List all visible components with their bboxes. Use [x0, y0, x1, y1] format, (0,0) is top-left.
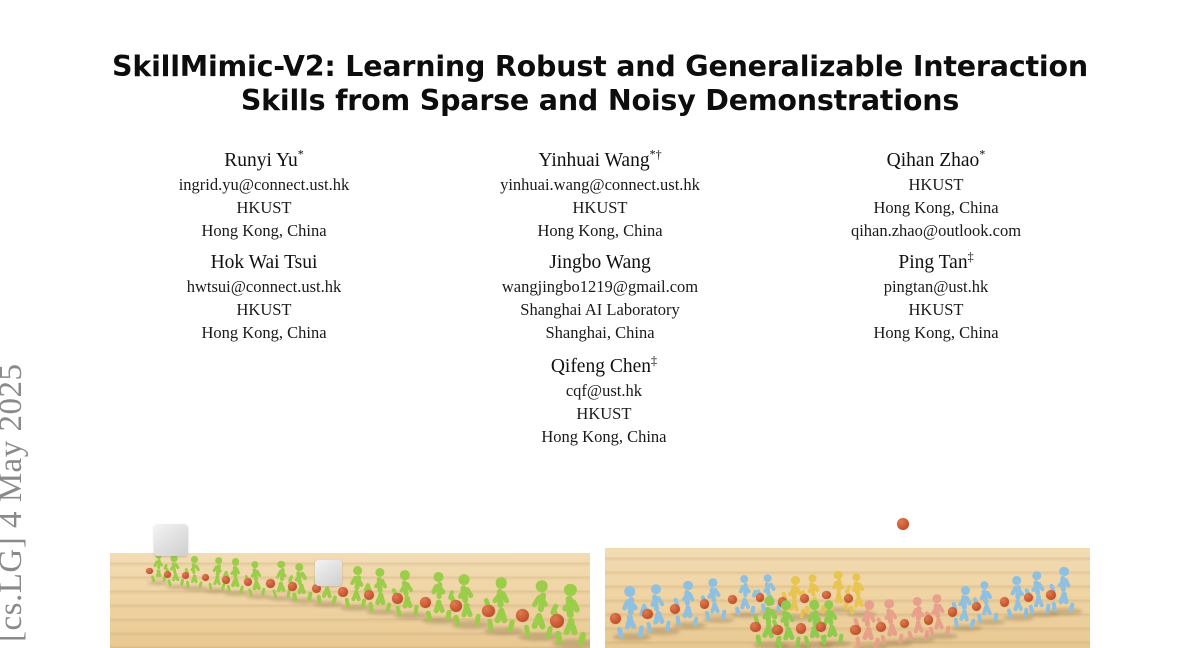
figure-limb: [344, 598, 350, 608]
figure-limb: [474, 614, 481, 627]
figure-limb: [360, 599, 366, 609]
figure-head: [1059, 567, 1069, 577]
figure-limb: [331, 595, 337, 605]
author-email: cqf@ust.hk: [436, 379, 772, 402]
figure-head: [232, 558, 239, 565]
figure-limb: [208, 582, 212, 590]
figure-head: [353, 566, 362, 575]
author-block-jingbo-wang: Jingbo Wang wangjingbo1219@gmail.com Sha…: [432, 250, 768, 344]
author-name: Jingbo Wang: [436, 250, 764, 275]
author-block-qihan-zhao: Qihan Zhao* HKUST Hong Kong, China qihan…: [768, 148, 1104, 242]
figure-limb: [554, 630, 562, 645]
author-row-1: Runyi Yu* ingrid.yu@connect.ust.hk HKUST…: [96, 148, 1104, 242]
figure-limb: [220, 583, 225, 591]
figure-head: [834, 570, 843, 579]
figure-limb: [751, 605, 756, 615]
basketball: [146, 568, 153, 575]
author-email: wangjingbo1219@gmail.com: [436, 275, 764, 298]
basketball: [164, 571, 171, 578]
basketball: [897, 518, 909, 530]
figure-limb: [638, 625, 645, 637]
basketball: [1046, 590, 1056, 600]
author-affiliation-mark: *: [979, 148, 985, 162]
basketball: [642, 609, 653, 620]
figure-head: [864, 600, 874, 610]
basketball: [772, 625, 783, 636]
figure-head: [932, 594, 941, 603]
box-obstacle: [315, 560, 342, 586]
box-obstacle: [154, 524, 188, 556]
figure-limb: [507, 620, 515, 633]
author-email: pingtan@ust.hk: [772, 275, 1100, 298]
figure-head: [375, 568, 384, 577]
humanoid-figure: [612, 583, 644, 638]
figure-limb: [838, 633, 844, 644]
basketball: [876, 622, 886, 632]
arxiv-stamp: [cs.LG] 4 May 2025: [0, 0, 96, 648]
figure-limb: [151, 575, 155, 582]
arxiv-stamp-text: [cs.LG] 4 May 2025: [0, 364, 30, 642]
title-line-1: SkillMimic-V2: Learning Robust and Gener…: [96, 50, 1104, 84]
humanoid-figure: [554, 580, 590, 645]
author-block-hok-wai-tsui: Hok Wai Tsui hwtsui@connect.ust.hk HKUST…: [96, 250, 432, 344]
humanoid-figure: [702, 575, 729, 621]
figure-head: [884, 599, 894, 609]
figure-limb: [292, 592, 298, 601]
author-email: yinhuai.wang@connect.ust.hk: [436, 173, 764, 196]
figure-limb: [445, 609, 451, 621]
author-institution: HKUST: [772, 173, 1100, 196]
basketball: [924, 615, 933, 624]
basketball: [222, 576, 230, 584]
figure-limb: [953, 618, 958, 628]
author-name-text: Qifeng Chen: [551, 356, 651, 377]
author-name-text: Qihan Zhao: [887, 150, 980, 171]
figure-limb: [261, 587, 266, 596]
figure-head: [913, 597, 922, 606]
figure-head: [1012, 576, 1021, 585]
author-row-3: Qifeng Chen‡ cqf@ust.hk HKUST Hong Kong,…: [96, 354, 1104, 448]
author-affiliation-mark: *†: [650, 148, 662, 162]
paper-page: SkillMimic-V2: Learning Robust and Gener…: [96, 0, 1200, 648]
figure-head: [191, 556, 198, 563]
humanoid-figure: [422, 570, 452, 622]
figure-limb: [385, 602, 392, 613]
basketball: [338, 587, 348, 597]
author-location: Hong Kong, China: [436, 219, 764, 242]
author-block-qifeng-chen: Qifeng Chen‡ cqf@ust.hk HKUST Hong Kong,…: [432, 354, 776, 448]
basketball: [844, 594, 853, 603]
basketball: [700, 599, 709, 608]
author-name: Yinhuai Wang*†: [436, 148, 764, 173]
figure-limb: [907, 630, 914, 641]
figure-limb: [1007, 608, 1014, 618]
humanoid-figure: [166, 554, 185, 587]
figure-limb: [969, 618, 976, 628]
humanoid-figure: [206, 556, 226, 591]
figure-limb: [545, 625, 554, 639]
author-block-runyi-yu: Runyi Yu* ingrid.yu@connect.ust.hk HKUST…: [96, 148, 432, 242]
author-name-text: Yinhuai Wang: [538, 150, 649, 171]
figure-head: [536, 580, 549, 593]
figure-head: [650, 584, 661, 595]
basketball: [266, 579, 275, 588]
figure-head: [980, 581, 989, 590]
author-institution: HKUST: [436, 196, 764, 219]
author-institution: HKUST: [436, 402, 772, 425]
author-institution: Shanghai AI Laboratory: [436, 298, 764, 321]
figure-head: [215, 557, 222, 564]
figure-limb: [523, 624, 531, 638]
figure-head: [740, 574, 749, 583]
author-name-text: Jingbo Wang: [549, 252, 651, 273]
figure-limb: [945, 626, 951, 636]
figure-head: [295, 563, 303, 571]
figure-limb: [413, 605, 419, 616]
figure-head: [1032, 571, 1042, 581]
figure-head: [683, 581, 693, 591]
figure-limb: [180, 579, 184, 586]
figure-head: [433, 572, 444, 583]
basketball: [288, 582, 297, 591]
author-name-text: Runyi Yu: [224, 150, 298, 171]
figure-head: [564, 583, 577, 596]
teaser-figure: [110, 505, 1090, 648]
author-location: Hong Kong, China: [436, 425, 772, 448]
figure-head: [852, 573, 861, 582]
figure-limb: [1068, 602, 1075, 613]
humanoid-figure: [1051, 564, 1079, 612]
figure-head: [251, 560, 259, 568]
author-email: ingrid.yu@connect.ust.hk: [100, 173, 428, 196]
title-line-2: Skills from Sparse and Noisy Demonstrati…: [96, 84, 1104, 118]
author-location: Shanghai, China: [436, 321, 764, 344]
author-institution: HKUST: [100, 298, 428, 321]
humanoid-figures-right: [605, 505, 1090, 648]
figure-limb: [239, 585, 244, 593]
author-location: Hong Kong, China: [100, 321, 428, 344]
author-row-2: Hok Wai Tsui hwtsui@connect.ust.hk HKUST…: [96, 250, 1104, 344]
figure-head: [171, 555, 178, 562]
humanoid-figure: [974, 578, 1001, 623]
author-name: Ping Tan‡: [772, 250, 1100, 275]
author-list: Runyi Yu* ingrid.yu@connect.ust.hk HKUST…: [96, 148, 1104, 448]
figure-head: [764, 574, 773, 583]
figure-limb: [617, 626, 625, 639]
figure-head: [824, 600, 834, 610]
author-affiliation-mark: ‡: [968, 250, 974, 264]
author-name: Hok Wai Tsui: [100, 250, 428, 275]
author-location: Hong Kong, China: [772, 321, 1100, 344]
humanoid-figure: [486, 574, 519, 632]
basketball: [948, 607, 957, 616]
figure-limb: [665, 620, 671, 632]
figure-head: [708, 578, 717, 587]
figure-head: [808, 574, 817, 583]
figure-limb: [803, 636, 810, 647]
author-affiliation-mark: *: [298, 148, 304, 162]
figure-limb: [880, 634, 887, 645]
humanoid-figure: [451, 571, 483, 626]
basketball: [796, 623, 806, 633]
figure-limb: [993, 612, 998, 622]
teaser-panel-right: [605, 505, 1090, 648]
figure-limb: [198, 581, 203, 589]
figure-limb: [692, 616, 699, 627]
basketball: [482, 605, 495, 618]
author-location: Hong Kong, China: [772, 196, 1100, 219]
author-block-yinhuai-wang: Yinhuai Wang*† yinhuai.wang@connect.ust.…: [432, 148, 768, 242]
author-email: qihan.zhao@outlook.com: [772, 219, 1100, 242]
humanoid-figure: [731, 572, 756, 615]
humanoid-figure: [186, 555, 205, 589]
author-location: Hong Kong, China: [100, 219, 428, 242]
basketball: [420, 597, 431, 608]
figure-limb: [307, 592, 312, 601]
figure-head: [458, 574, 469, 585]
basketball: [392, 593, 403, 604]
humanoid-figure: [290, 560, 314, 601]
basketball: [816, 622, 826, 632]
author-block-ping-tan: Ping Tan‡ pingtan@ust.hk HKUST Hong Kong…: [768, 250, 1104, 344]
figure-limb: [675, 615, 681, 626]
figure-head: [624, 586, 635, 597]
basketball: [728, 595, 737, 604]
author-name-text: Ping Tan: [898, 252, 967, 273]
humanoid-figure: [342, 563, 368, 608]
author-affiliation-mark: ‡: [651, 354, 657, 368]
figure-head: [495, 577, 507, 589]
figure-head: [780, 600, 791, 611]
author-institution: HKUST: [100, 196, 428, 219]
basketball: [972, 602, 981, 611]
author-email: hwtsui@connect.ust.hk: [100, 275, 428, 298]
teaser-panel-left: [110, 505, 590, 648]
basketball: [670, 604, 680, 614]
author-name: Qihan Zhao*: [772, 148, 1100, 173]
figure-limb: [856, 636, 862, 648]
figure-limb: [453, 614, 461, 627]
figure-limb: [721, 610, 727, 620]
figure-head: [400, 570, 410, 580]
humanoid-figure: [818, 597, 846, 645]
basketball: [450, 600, 462, 612]
humanoid-figure: [149, 552, 167, 583]
figure-head: [961, 586, 970, 595]
figure-limb: [368, 601, 374, 612]
humanoid-figures-left: [110, 505, 590, 648]
author-name: Qifeng Chen‡: [436, 354, 772, 379]
figure-limb: [1051, 601, 1057, 612]
figure-limb: [486, 619, 493, 632]
figure-limb: [395, 606, 402, 617]
figure-limb: [426, 610, 433, 622]
basketball: [850, 625, 861, 636]
figure-limb: [756, 634, 762, 646]
author-name: Runyi Yu*: [100, 148, 428, 173]
author-name-text: Hok Wai Tsui: [211, 252, 318, 273]
figure-limb: [577, 631, 586, 646]
figure-limb: [820, 634, 827, 645]
basketball: [1000, 597, 1009, 606]
figure-head: [277, 560, 285, 568]
figure-head: [791, 576, 800, 585]
author-institution: HKUST: [772, 298, 1100, 321]
page-title: SkillMimic-V2: Learning Robust and Gener…: [96, 50, 1104, 118]
